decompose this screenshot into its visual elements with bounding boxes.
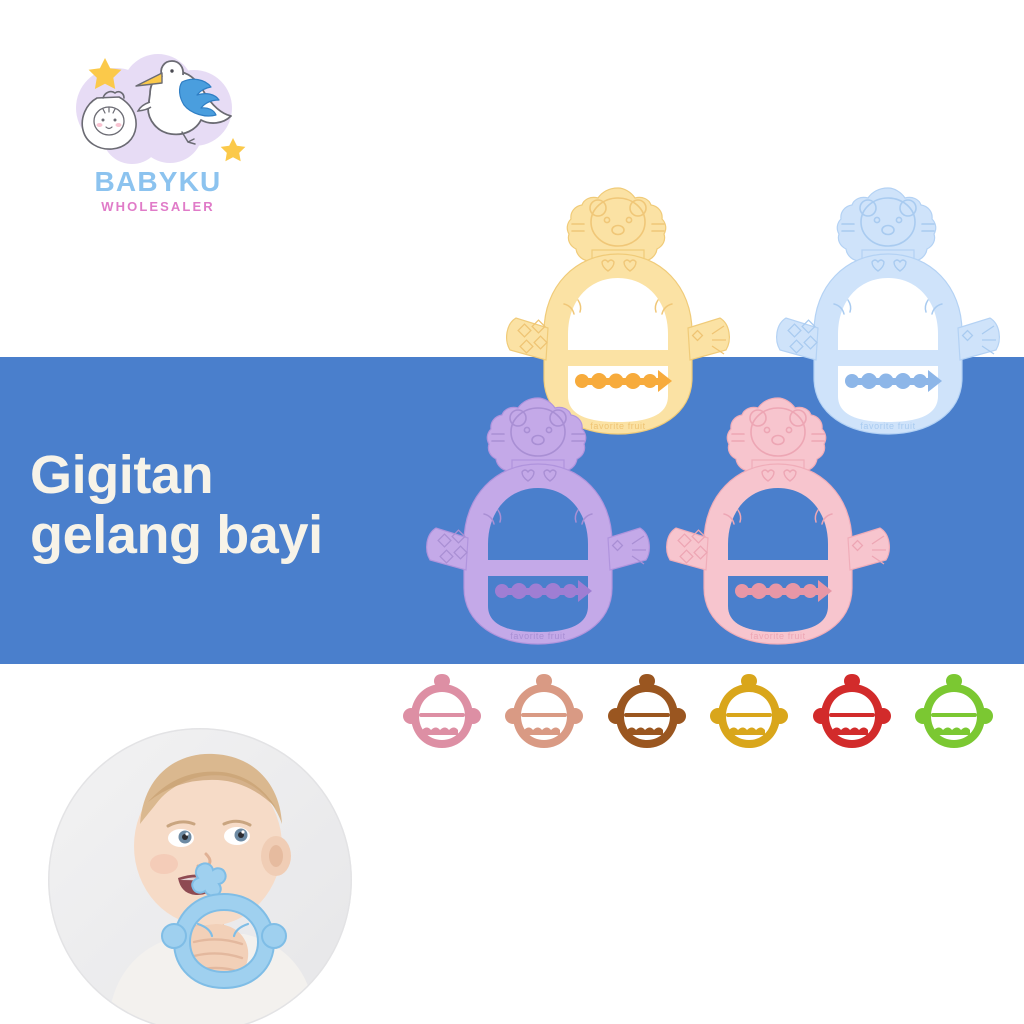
brand-logo: BABYKU WHOLESALER [58,46,258,226]
color-variant-row [398,668,998,756]
product-banner-canvas: BABYKU WHOLESALER Gigitan gelang bayi [0,0,1024,1024]
product-embossed-label: favorite fruit [510,631,565,641]
brand-name: BABYKU [58,168,258,196]
headline-text: Gigitan gelang bayi [30,445,323,566]
product-teether-pink[interactable]: favorite fruit [658,392,898,664]
color-swatch-red[interactable] [808,668,896,756]
product-teether-purple[interactable]: favorite fruit [418,392,658,664]
lifestyle-photo-baby-with-teether [48,728,352,1024]
color-swatch-gold[interactable] [705,668,793,756]
color-swatch-rose[interactable] [398,668,486,756]
stork-carrying-baby-bundle-icon [58,46,258,171]
brand-tagline: WHOLESALER [58,200,258,213]
color-swatch-brown[interactable] [603,668,691,756]
color-swatch-green[interactable] [910,668,998,756]
color-swatch-peach[interactable] [500,668,588,756]
product-embossed-label: favorite fruit [750,631,805,641]
headline-line-2: gelang bayi [30,505,323,565]
headline-line-1: Gigitan [30,445,323,505]
